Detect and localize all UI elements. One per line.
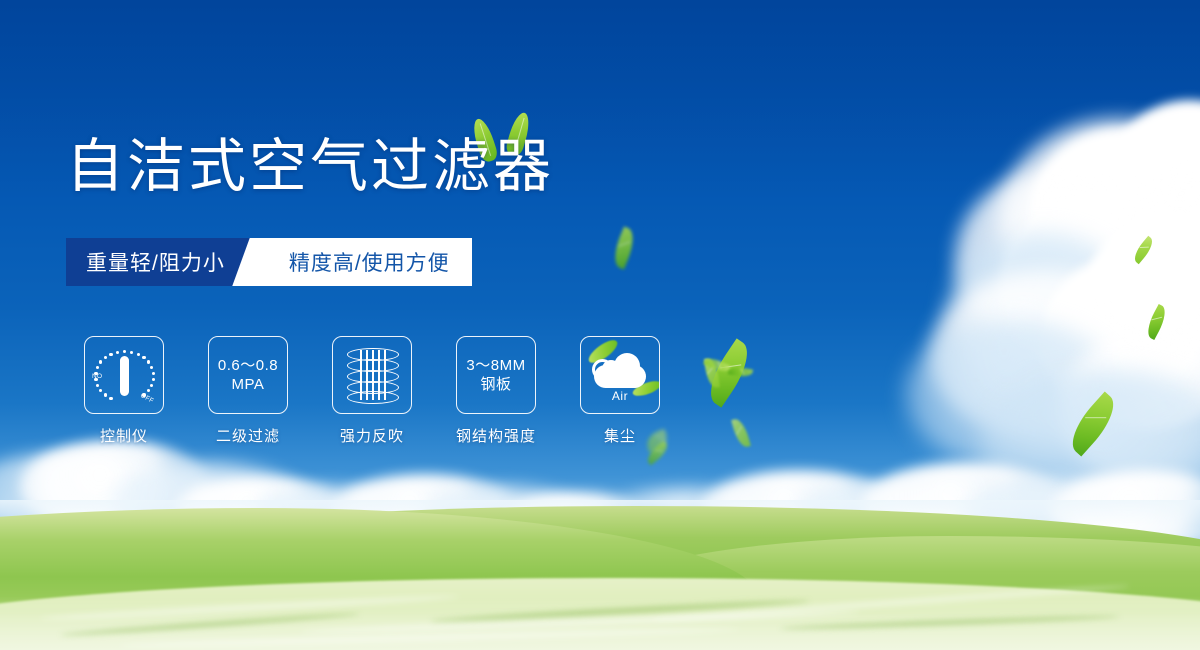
feature-icon-box: NO OFF [84,336,164,414]
tagline-secondary: 精度高/使用方便 [259,238,472,286]
gauge-dial-icon: NO OFF [93,346,155,404]
steel-value-line2: 钢板 [480,375,511,394]
feature-item-controller[interactable]: NO OFF 控制仪 [74,336,174,446]
feature-item-dust-collection[interactable]: Air 集尘 [570,336,670,446]
pressure-value-line1: 0.6〜0.8 [218,356,278,375]
feature-item-steel-strength[interactable]: 3〜8MM 钢板 钢结构强度 [446,336,546,446]
feature-icon-box: 0.6〜0.8 MPA [208,336,288,414]
feature-list: NO OFF 控制仪 0.6〜0.8 MPA 二级过滤 [74,336,670,446]
product-hero-banner: 自洁式空气过滤器 重量轻/阻力小 精度高/使用方便 [0,0,1200,650]
feature-caption: 控制仪 [100,425,148,446]
steel-value-line1: 3〜8MM [466,356,525,375]
gauge-label-no: NO [92,373,102,380]
gauge-label-off: OFF [139,392,155,405]
tagline-secondary-text: 精度高/使用方便 [289,247,450,277]
tagline-bar: 重量轻/阻力小 精度高/使用方便 [66,238,472,286]
air-label: Air [588,389,652,403]
grass-field [0,500,1200,650]
gauge-switch-bar [120,356,129,396]
feature-icon-box: Air [580,336,660,414]
feature-caption: 集尘 [604,425,636,446]
page-title: 自洁式空气过滤器 [66,138,554,196]
feature-item-backblow[interactable]: 强力反吹 [322,336,422,446]
tagline-primary-text: 重量轻/阻力小 [86,247,225,277]
feature-caption: 强力反吹 [340,425,404,446]
feature-caption: 钢结构强度 [456,425,536,446]
feature-item-secondary-filter[interactable]: 0.6〜0.8 MPA 二级过滤 [198,336,298,446]
air-cloud-icon: Air [588,347,652,403]
feature-icon-box: 3〜8MM 钢板 [456,336,536,414]
coil-spring-icon [347,346,397,404]
tagline-primary: 重量轻/阻力小 [66,238,259,286]
feature-icon-box [332,336,412,414]
pressure-value-line2: MPA [232,375,265,394]
feature-caption: 二级过滤 [216,425,280,446]
